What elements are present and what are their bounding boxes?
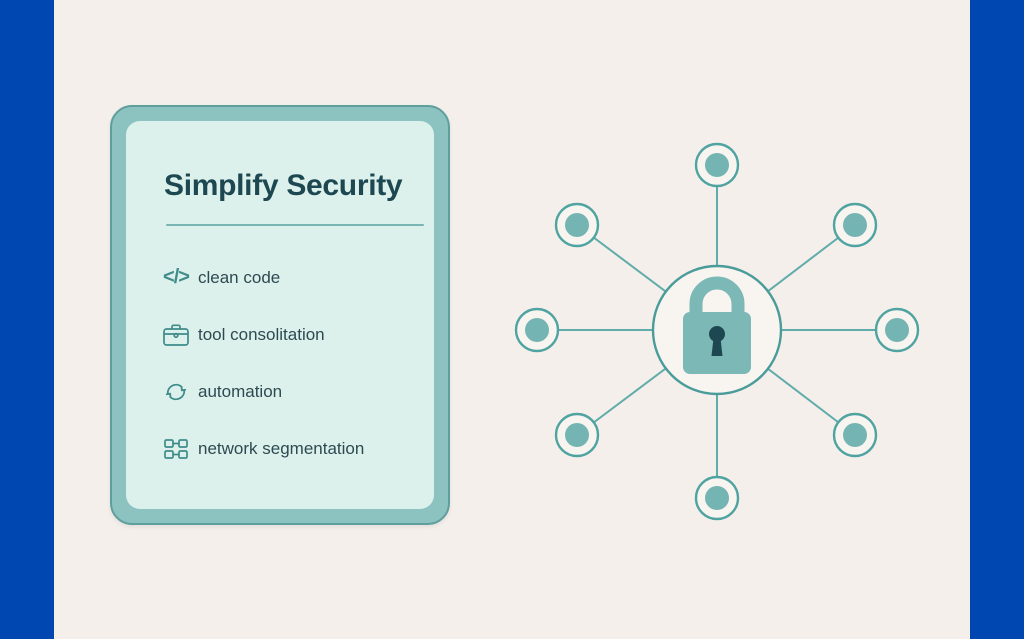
feature-label-tool-consolidation: tool consolitation bbox=[198, 325, 325, 345]
list-item: tool consolitation bbox=[154, 306, 424, 363]
feature-label-automation: automation bbox=[198, 382, 282, 402]
node-sw bbox=[556, 414, 598, 456]
left-accent-bar bbox=[0, 0, 54, 639]
node-s bbox=[696, 477, 738, 519]
slide-canvas: Simplify Security </> clean code bbox=[0, 0, 1024, 639]
node-e bbox=[876, 309, 918, 351]
right-accent-bar bbox=[970, 0, 1024, 639]
network-segmentation-icon bbox=[154, 432, 198, 466]
node-ne bbox=[834, 204, 876, 246]
feature-label-clean-code: clean code bbox=[198, 268, 280, 288]
node-n bbox=[696, 144, 738, 186]
title-divider bbox=[166, 224, 424, 226]
code-icon: </> bbox=[154, 261, 198, 295]
page-title: Simplify Security bbox=[164, 169, 402, 203]
list-item: </> clean code bbox=[154, 249, 424, 306]
node-w bbox=[516, 309, 558, 351]
node-nw bbox=[556, 204, 598, 246]
list-item: automation bbox=[154, 363, 424, 420]
security-hub-network bbox=[495, 120, 945, 530]
code-icon-glyph: </> bbox=[163, 266, 189, 289]
briefcase-icon bbox=[154, 318, 198, 352]
feature-label-network-segmentation: network segmentation bbox=[198, 439, 364, 459]
feature-list: </> clean code tool consolitation bbox=[154, 249, 424, 477]
card-inner-panel: Simplify Security </> clean code bbox=[126, 121, 434, 509]
node-se bbox=[834, 414, 876, 456]
simplify-security-card: Simplify Security </> clean code bbox=[110, 105, 450, 525]
list-item: network segmentation bbox=[154, 420, 424, 477]
refresh-cycle-icon bbox=[154, 375, 198, 409]
